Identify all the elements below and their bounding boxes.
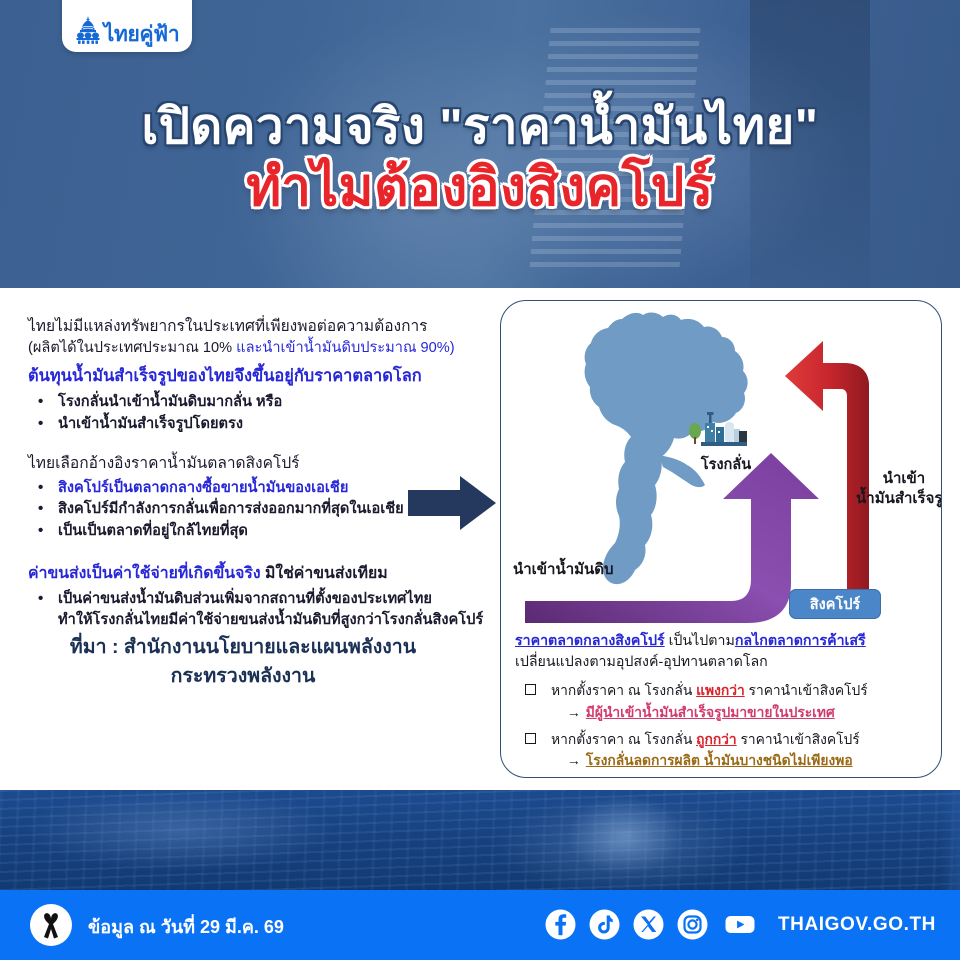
facebook-icon[interactable] <box>544 908 577 941</box>
singapore-badge: สิงคโปร์ <box>789 589 881 619</box>
title-line-1: เปิดความจริง "ราคาน้ำมันไทย" <box>0 100 960 155</box>
tiktok-icon[interactable] <box>588 908 621 941</box>
source-line-1: ที่มา : สำนักงานนโยบายและแผนพลังงาน <box>70 636 416 658</box>
arrow-right-icon: → <box>567 753 581 768</box>
list-item: หากตั้งราคา ณ โรงกลั่น แพงกว่า ราคานำเข้… <box>515 681 935 723</box>
p1-line2-b: และนำเข้าน้ำมันดิบประมาณ 90%) <box>232 340 455 356</box>
p1-line1: ไทยไม่มีแหล่งทรัพยากรในประเทศที่เพียงพอต… <box>28 316 458 338</box>
left-text-column: ไทยไม่มีแหล่งทรัพยากรในประเทศที่เพียงพอต… <box>28 316 458 634</box>
instagram-icon[interactable] <box>676 908 709 941</box>
cond-1-result: มีผู้นำเข้าน้ำมันสำเร็จรูปมาขายในประเทศ <box>586 705 835 720</box>
p3-heading: ค่าขนส่งเป็นค่าใช้จ่ายที่เกิดขึ้นจริง มิ… <box>28 563 458 585</box>
government-building-icon <box>75 15 101 45</box>
paragraph-transport-cost: ค่าขนส่งเป็นค่าใช้จ่ายที่เกิดขึ้นจริง มิ… <box>28 563 458 632</box>
list-item: สิงคโปร์เป็นตลาดกลางซื้อขายน้ำมันของเอเช… <box>28 478 458 500</box>
black-right-arrow-icon <box>406 472 498 534</box>
checkbox-icon <box>525 684 536 695</box>
water-texture-band <box>0 790 960 890</box>
list-item: เป็นค่าขนส่งน้ำมันดิบส่วนเพิ่มจากสถานที่… <box>28 589 458 633</box>
list-item: สิงคโปร์มีกำลังการกลั่นเพื่อการส่งออกมาก… <box>28 499 458 521</box>
panel-line-2: เปลี่ยนแปลงตามอุปสงค์-อุปทานตลาดโลก <box>515 652 935 673</box>
p1-heading: ต้นทุนน้ำมันสำเร็จรูปของไทยจึงขึ้นอยู่กั… <box>28 363 458 389</box>
p1-line2: (ผลิตได้ในประเทศประมาณ 10% และนำเข้าน้ำม… <box>28 338 458 359</box>
cond-1-post: ราคานำเข้าสิงคโปร์ <box>745 683 868 698</box>
cond-1-emphasis: แพงกว่า <box>696 683 745 698</box>
p3-bullet-line1: เป็นค่าขนส่งน้ำมันดิบส่วนเพิ่มจากสถานที่… <box>58 591 432 607</box>
arrow-right-icon: → <box>567 705 581 720</box>
website-url[interactable]: THAIGOV.GO.TH <box>778 914 936 936</box>
cond-2-emphasis: ถูกกว่า <box>696 732 737 747</box>
cond-2-result: โรงกลั่นลดการผลิต น้ำมันบางชนิดไม่เพียงพ… <box>586 753 853 768</box>
source-line-2: กระทรวงพลังงาน <box>28 662 458 691</box>
infographic-page: ไทยคู่ฟ้า เปิดความจริง "ราคาน้ำมันไทย" ท… <box>0 0 960 960</box>
youtube-icon[interactable] <box>720 908 760 941</box>
oil-refinery-icon <box>687 409 749 451</box>
header-banner: ไทยคู่ฟ้า เปิดความจริง "ราคาน้ำมันไทย" ท… <box>0 0 960 288</box>
map-diagram: โรงกลั่น นำเข้า น้ำมันสำเร็จรูป <box>501 301 942 631</box>
p3-bullet-line2: ทำให้โรงกลั่นไทยมีค่าใช้จ่ายขนส่งน้ำมันด… <box>58 610 458 632</box>
logo-text: ไทยคู่ฟ้า <box>104 24 180 45</box>
paragraph-singapore-reference: ไทยเลือกอ้างอิงราคาน้ำมันตลาดสิงคโปร์ สิ… <box>28 453 458 544</box>
condition-list: หากตั้งราคา ณ โรงกลั่น แพงกว่า ราคานำเข้… <box>515 681 935 772</box>
cond-2-post: ราคานำเข้าสิงคโปร์ <box>737 732 860 747</box>
cond-2-result-row: →โรงกลั่นลดการผลิต น้ำมันบางชนิดไม่เพียง… <box>551 751 935 772</box>
free-trade-mechanism-term: กลไกตลาดการค้าเสรี <box>735 633 866 649</box>
p2-bullet-list: สิงคโปร์เป็นตลาดกลางซื้อขายน้ำมันของเอเช… <box>28 478 458 544</box>
p3-heading-dark: มิใช่ค่าขนส่งเทียม <box>261 565 388 582</box>
list-item: หากตั้งราคา ณ โรงกลั่น ถูกกว่า ราคานำเข้… <box>515 730 935 772</box>
cond-1-result-row: →มีผู้นำเข้าน้ำมันสำเร็จรูปมาขายในประเทศ <box>551 703 935 724</box>
content-area: ไทยไม่มีแหล่งทรัพยากรในประเทศที่เพียงพอต… <box>0 288 960 790</box>
panel-explanation: ราคาตลาดกลางสิงคโปร์ เป็นไปตามกลไกตลาดกา… <box>515 631 935 778</box>
source-credit: ที่มา : สำนักงานนโยบายและแผนพลังงาน กระท… <box>28 633 458 692</box>
footer-date: ข้อมูล ณ วันที่ 29 มี.ค. 69 <box>88 912 284 941</box>
cond-1-pre: หากตั้งราคา ณ โรงกลั่น <box>551 683 696 698</box>
list-item: โรงกลั่นนำเข้าน้ำมันดิบมากลั่น หรือ <box>28 392 458 414</box>
mourning-ribbon-badge <box>30 904 72 946</box>
red-label-line1: นำเข้า <box>883 470 925 487</box>
mourning-ribbon-icon <box>38 910 64 940</box>
list-item: นำเข้าน้ำมันสำเร็จรูปโดยตรง <box>28 414 458 436</box>
paragraph-resources: ไทยไม่มีแหล่งทรัพยากรในประเทศที่เพียงพอต… <box>28 316 458 436</box>
diagram-panel: โรงกลั่น นำเข้า น้ำมันสำเร็จรูป <box>500 300 942 778</box>
refined-oil-import-label: นำเข้า น้ำมันสำเร็จรูป <box>849 469 942 508</box>
cond-2-pre: หากตั้งราคา ณ โรงกลั่น <box>551 732 696 747</box>
x-twitter-icon[interactable] <box>632 908 665 941</box>
header-title-block: เปิดความจริง "ราคาน้ำมันไทย" ทำไมต้องอิง… <box>0 100 960 217</box>
crude-oil-import-label: นำเข้าน้ำมันดิบ <box>513 557 614 581</box>
panel-line-1-mid: เป็นไปตาม <box>665 633 735 649</box>
p2-heading: ไทยเลือกอ้างอิงราคาน้ำมันตลาดสิงคโปร์ <box>28 453 458 475</box>
title-line-2: ทำไมต้องอิงสิงคโปร์ <box>0 158 960 217</box>
singapore-market-price-term: ราคาตลาดกลางสิงคโปร์ <box>515 633 665 649</box>
panel-line-1: ราคาตลาดกลางสิงคโปร์ เป็นไปตามกลไกตลาดกา… <box>515 631 935 652</box>
thaigov-logo: ไทยคู่ฟ้า <box>62 0 192 52</box>
social-links: THAIGOV.GO.TH <box>544 908 936 941</box>
p1-bullet-list: โรงกลั่นนำเข้าน้ำมันดิบมากลั่น หรือ นำเข… <box>28 392 458 436</box>
red-label-line2: น้ำมันสำเร็จรูป <box>856 490 942 507</box>
footer-bar: ข้อมูล ณ วันที่ 29 มี.ค. 69 <box>0 890 960 960</box>
p3-heading-blue: ค่าขนส่งเป็นค่าใช้จ่ายที่เกิดขึ้นจริง <box>28 565 261 582</box>
p3-bullet-list: เป็นค่าขนส่งน้ำมันดิบส่วนเพิ่มจากสถานที่… <box>28 589 458 633</box>
p1-line2-a: (ผลิตได้ในประเทศประมาณ 10% <box>28 340 232 356</box>
list-item: เป็นเป็นตลาดที่อยู่ใกล้ไทยที่สุด <box>28 521 458 543</box>
checkbox-icon <box>525 733 536 744</box>
